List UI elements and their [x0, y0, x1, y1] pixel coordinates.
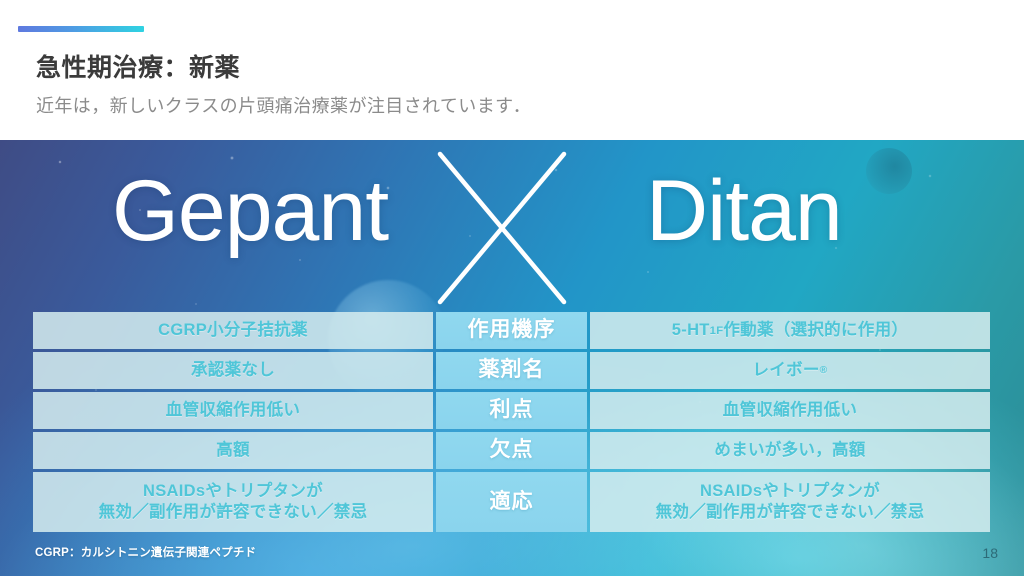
cell-ditan-disadvantage: めまいが多い，高額	[590, 432, 990, 469]
table-row: NSAIDsやトリプタンが 無効／副作用が許容できない／禁忌 適応 NSAIDs…	[33, 472, 990, 532]
table-row: 承認薬なし 薬剤名 レイボー®	[33, 352, 990, 389]
hero-word-right: Ditan	[646, 168, 842, 254]
hero-comparison-heading: Gepant Ditan	[0, 140, 1024, 315]
cell-ditan-drugname: レイボー®	[590, 352, 990, 389]
slide: 急性期治療：新薬 近年は，新しいクラスの片頭痛治療薬が注目されています． Gep…	[0, 0, 1024, 576]
ditan-drugname-text: レイボー	[752, 360, 819, 381]
page-number: 18	[982, 545, 998, 561]
cell-gepant-drugname: 承認薬なし	[33, 352, 433, 389]
gepant-indication-line1: NSAIDsやトリプタンが	[99, 481, 368, 502]
ditan-mechanism-suffix: 作動薬（選択的に作用）	[723, 320, 908, 341]
page-title: 急性期治療：新薬	[36, 48, 240, 84]
comparison-table: CGRP小分子拮抗薬 作用機序 5-HT1F作動薬（選択的に作用） 承認薬なし …	[33, 312, 990, 532]
cell-gepant-indication: NSAIDsやトリプタンが 無効／副作用が許容できない／禁忌	[33, 472, 433, 532]
cross-x-icon	[432, 148, 572, 308]
slide-header: 急性期治療：新薬 近年は，新しいクラスの片頭痛治療薬が注目されています．	[0, 0, 1024, 140]
cell-label-disadvantage: 欠点	[436, 432, 587, 469]
ditan-mechanism-prefix: 5-HT	[672, 320, 710, 341]
accent-bar	[18, 26, 144, 32]
hero-word-left: Gepant	[112, 168, 388, 254]
cell-ditan-advantage: 血管収縮作用低い	[590, 392, 990, 429]
table-row: CGRP小分子拮抗薬 作用機序 5-HT1F作動薬（選択的に作用）	[33, 312, 990, 349]
cell-gepant-advantage: 血管収縮作用低い	[33, 392, 433, 429]
table-row: 高額 欠点 めまいが多い，高額	[33, 432, 990, 469]
ditan-indication-line1: NSAIDsやトリプタンが	[656, 481, 925, 502]
cell-ditan-indication: NSAIDsやトリプタンが 無効／副作用が許容できない／禁忌	[590, 472, 990, 532]
gepant-indication-line2: 無効／副作用が許容できない／禁忌	[99, 502, 368, 523]
ditan-indication-line2: 無効／副作用が許容できない／禁忌	[656, 502, 925, 523]
cell-gepant-disadvantage: 高額	[33, 432, 433, 469]
abbreviation-note: CGRP：カルシトニン遺伝子関連ペプチド	[35, 544, 256, 560]
cell-gepant-mechanism: CGRP小分子拮抗薬	[33, 312, 433, 349]
table-row: 血管収縮作用低い 利点 血管収縮作用低い	[33, 392, 990, 429]
cell-ditan-mechanism: 5-HT1F作動薬（選択的に作用）	[590, 312, 990, 349]
cell-label-mechanism: 作用機序	[436, 312, 587, 349]
cell-label-drugname: 薬剤名	[436, 352, 587, 389]
cell-label-advantage: 利点	[436, 392, 587, 429]
page-subtitle: 近年は，新しいクラスの片頭痛治療薬が注目されています．	[36, 92, 531, 118]
cell-label-indication: 適応	[436, 472, 587, 532]
